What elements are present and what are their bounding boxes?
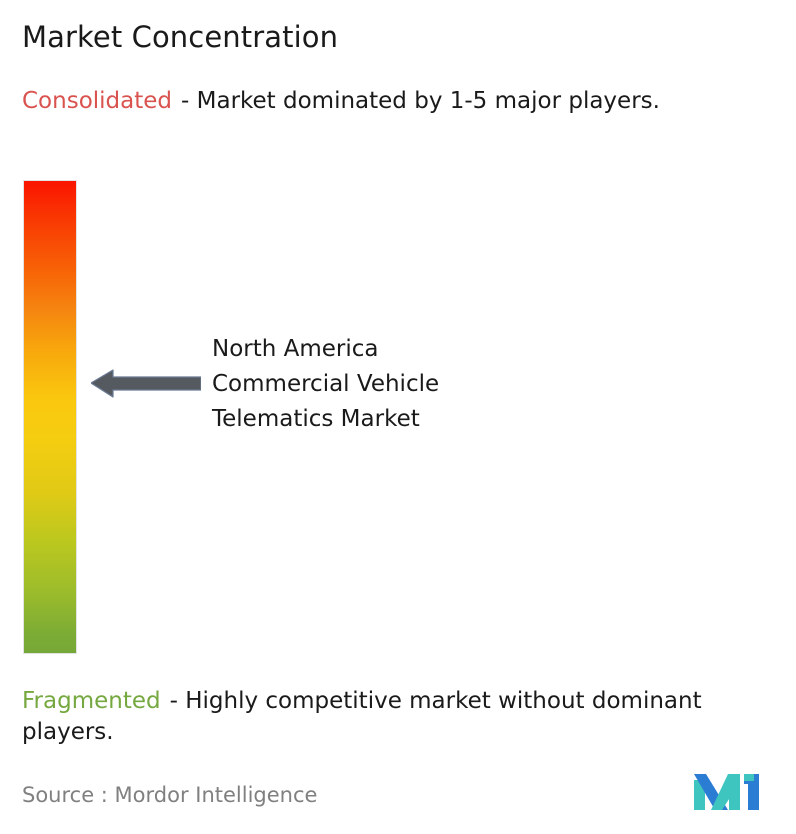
callout-line-2: Commercial Vehicle	[212, 367, 542, 402]
legend-term-fragmented: Fragmented	[22, 688, 161, 714]
market-position-arrow	[91, 368, 201, 398]
arrow-left-icon	[91, 368, 201, 398]
market-concentration-scale-bar	[24, 181, 76, 653]
logo-mi-monogram	[692, 770, 764, 812]
mordor-intelligence-logo-icon	[692, 770, 764, 812]
legend-term-consolidated: Consolidated	[22, 88, 172, 114]
callout-line-3: Telematics Market	[212, 402, 542, 437]
source-attribution: Source : Mordor Intelligence	[22, 781, 317, 809]
legend-description-consolidated: - Market dominated by 1-5 major players.	[181, 88, 660, 114]
callout-line-1: North America	[212, 332, 542, 367]
legend-fragmented: Fragmented- Highly competitive market wi…	[22, 686, 782, 748]
market-callout-label: North America Commercial Vehicle Telemat…	[212, 332, 542, 437]
legend-consolidated: Consolidated- Market dominated by 1-5 ma…	[22, 86, 767, 117]
page-title: Market Concentration	[22, 18, 338, 56]
